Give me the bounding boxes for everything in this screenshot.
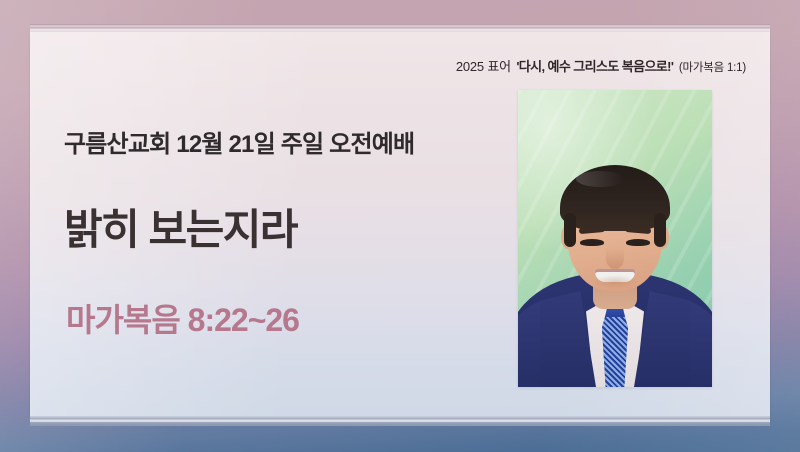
portrait-eyebrow-right bbox=[625, 226, 651, 234]
portrait-head bbox=[567, 173, 663, 291]
service-heading: 구름산교회 12월 21일 주일 오전예배 bbox=[64, 124, 414, 159]
portrait-eyebrow-left bbox=[579, 226, 605, 234]
year-motto: 2025 표어 '다시, 예수 그리스도 복음으로!' (마가복음 1:1) bbox=[456, 56, 746, 75]
preacher-photo bbox=[518, 90, 712, 387]
portrait-chin bbox=[592, 275, 638, 289]
portrait-eye-right bbox=[626, 239, 650, 246]
motto-reference: (마가복음 1:1) bbox=[679, 62, 746, 74]
portrait-eye-left bbox=[580, 239, 604, 246]
panel-top-rule bbox=[30, 24, 770, 32]
motto-main: '다시, 예수 그리스도 복음으로!' bbox=[516, 59, 673, 74]
motto-lead: 2025 표어 bbox=[456, 59, 511, 74]
portrait-sideburn-right bbox=[654, 213, 666, 247]
panel-bottom-rule bbox=[30, 416, 770, 426]
portrait-sideburn-left bbox=[564, 213, 576, 247]
scripture-reference: 마가복음 8:22~26 bbox=[66, 295, 299, 341]
sermon-title: 밝히 보는지라 bbox=[64, 196, 297, 257]
portrait-nose bbox=[606, 247, 624, 269]
portrait-necktie bbox=[602, 307, 628, 387]
sermon-slide: 2025 표어 '다시, 예수 그리스도 복음으로!' (마가복음 1:1) 구… bbox=[0, 0, 800, 452]
